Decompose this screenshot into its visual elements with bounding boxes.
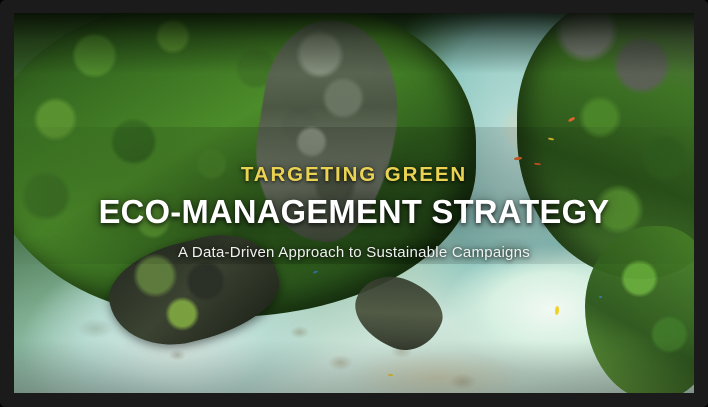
slide-canvas: TARGETING GREEN ECO-MANAGEMENT STRATEGY … (14, 13, 694, 393)
eyebrow-text: TARGETING GREEN (14, 162, 694, 188)
page-title: ECO-MANAGEMENT STRATEGY (17, 193, 690, 232)
subtitle-text: A Data-Driven Approach to Sustainable Ca… (14, 243, 694, 263)
slide-frame: TARGETING GREEN ECO-MANAGEMENT STRATEGY … (0, 0, 708, 407)
title-block: TARGETING GREEN ECO-MANAGEMENT STRATEGY … (14, 144, 694, 262)
